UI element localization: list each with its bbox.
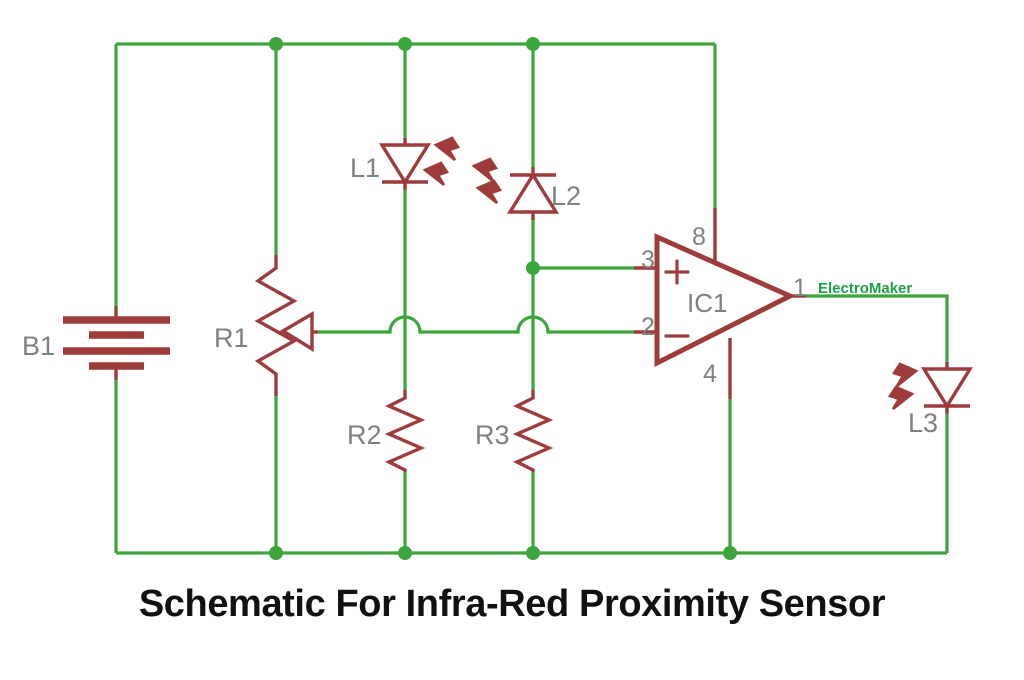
pin-label-4: 4 <box>703 360 717 388</box>
pin-label-1: 1 <box>793 274 807 302</box>
l1-arrow-2 <box>425 163 447 185</box>
junction-dots <box>269 37 737 560</box>
l3-arrow-1 <box>894 364 916 386</box>
l1-arrow-1 <box>436 138 458 160</box>
ic1-plus-sign <box>666 261 688 283</box>
pin-label-3: 3 <box>641 246 655 274</box>
l3-triangle <box>924 369 970 406</box>
wiring-layer <box>116 44 947 553</box>
label-l3: L3 <box>908 408 938 438</box>
label-r3: R3 <box>475 420 510 450</box>
l2-triangle <box>510 175 556 212</box>
label-l2: L2 <box>551 181 581 211</box>
schematic-canvas: B1 R1 R2 R3 L1 L2 L3 IC1 3 2 8 4 1 Elect… <box>0 0 1024 680</box>
l3-emission-arrows <box>890 364 916 409</box>
label-ic1: IC1 <box>687 288 727 318</box>
component-r3-resistor <box>517 390 549 472</box>
component-l3-led <box>890 362 970 414</box>
junction-bottom-r1 <box>269 546 283 560</box>
pin-label-8: 8 <box>692 223 706 251</box>
junction-top-l1 <box>398 37 412 51</box>
l3-arrow-2 <box>890 387 912 409</box>
label-b1: B1 <box>22 331 55 361</box>
r1-zigzag <box>258 255 294 396</box>
l2-incident-arrows <box>474 159 500 203</box>
junction-bottom-r2 <box>398 546 412 560</box>
component-l1-led <box>382 138 458 190</box>
component-r1-potentiometer <box>258 255 318 396</box>
junction-top-l2 <box>526 37 540 51</box>
component-b1-battery <box>63 306 170 380</box>
page-title: Schematic For Infra-Red Proximity Sensor <box>0 583 1024 626</box>
brand-watermark: ElectroMaker <box>818 280 912 297</box>
l1-triangle <box>382 145 428 182</box>
l2-arrow-1 <box>474 159 496 181</box>
r3-zigzag <box>517 390 549 472</box>
l2-arrow-2 <box>478 181 500 203</box>
r2-zigzag <box>389 390 421 472</box>
component-l2-photodiode <box>474 159 556 220</box>
junction-bottom-r3 <box>526 546 540 560</box>
wire-output-to-l3 <box>806 296 947 362</box>
junction-bottom-ic <box>723 546 737 560</box>
label-l1: L1 <box>350 153 380 183</box>
schematic-drawing: B1 R1 R2 R3 L1 L2 L3 IC1 3 2 8 4 1 Elect… <box>0 0 1024 680</box>
component-r2-resistor <box>389 390 421 472</box>
wire-wiper-to-pin2 <box>318 317 634 332</box>
junction-top-r1 <box>269 37 283 51</box>
label-r2: R2 <box>347 420 382 450</box>
pin-label-2: 2 <box>641 313 655 341</box>
label-r1: R1 <box>214 323 249 353</box>
junction-pin3 <box>526 261 540 275</box>
